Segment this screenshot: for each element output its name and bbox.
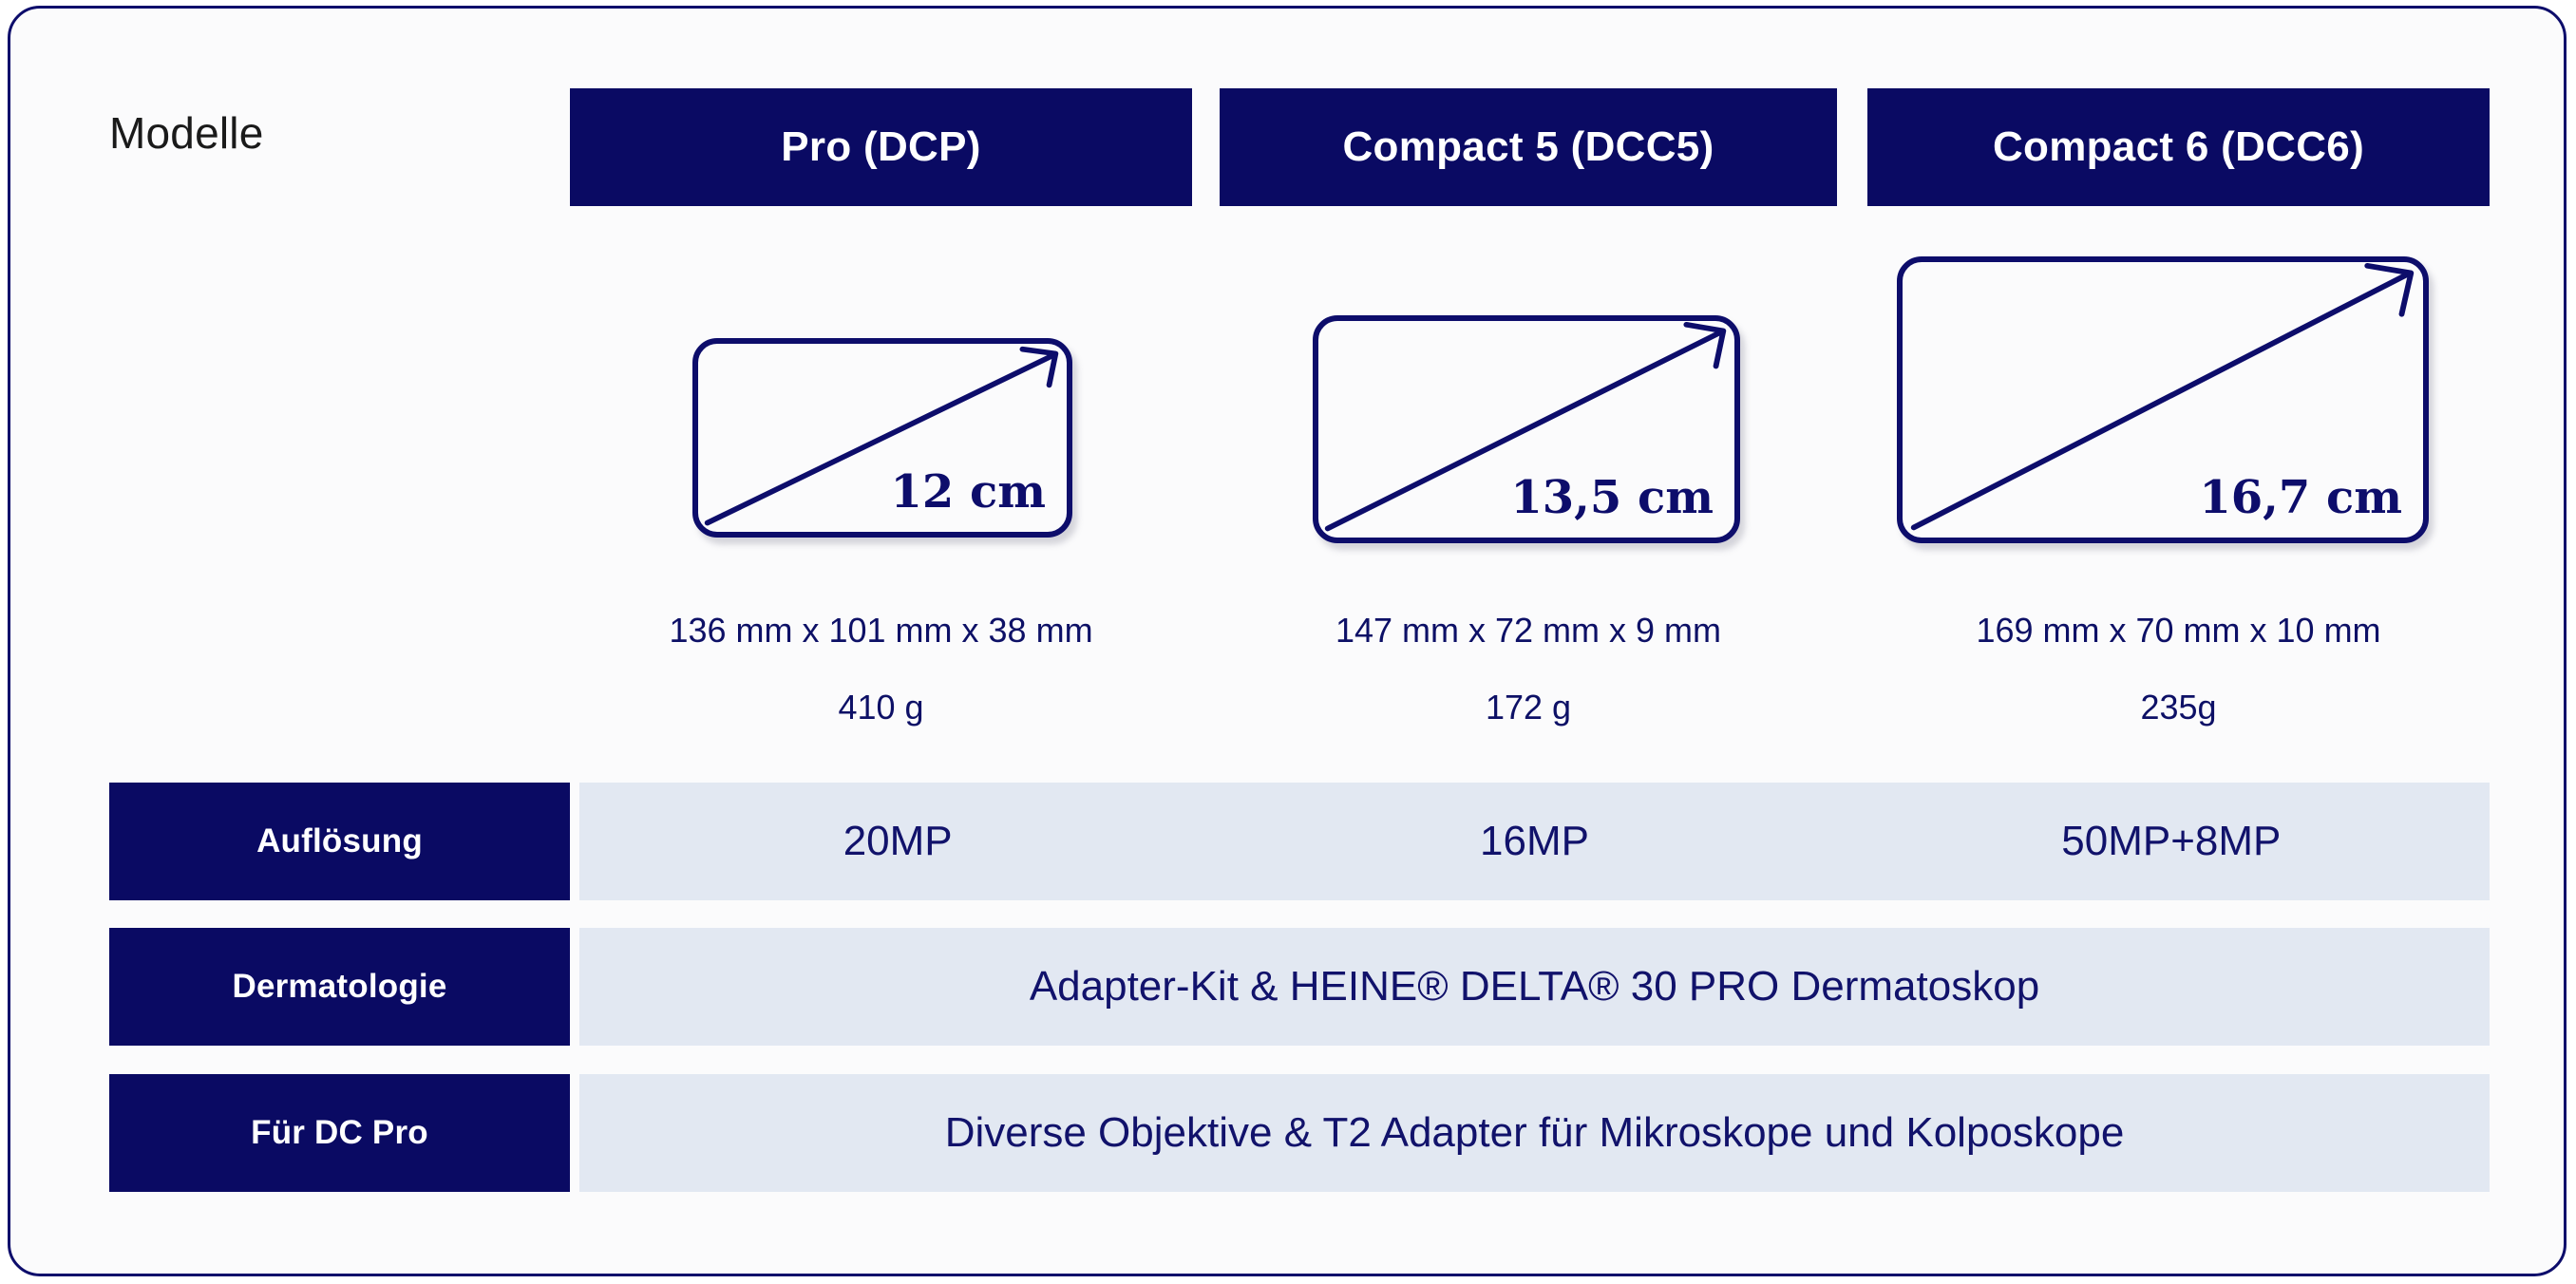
spec-value-cell: 20MP: [579, 818, 1216, 865]
device-weight: 172 g: [1220, 688, 1837, 727]
model-header-compact6[interactable]: Compact 6 (DCC6): [1867, 88, 2490, 206]
models-row-label: Modelle: [109, 107, 264, 159]
spec-row-values: 20MP 16MP 50MP+8MP: [579, 783, 2490, 900]
device-outline-compact6: 16,7 cm: [1897, 256, 2429, 543]
model-header-compact5[interactable]: Compact 5 (DCC5): [1220, 88, 1837, 206]
device-dimensions: 147 mm x 72 mm x 9 mm: [1220, 611, 1837, 651]
spec-row-label: Für DC Pro: [109, 1074, 570, 1192]
model-header-pro[interactable]: Pro (DCP): [570, 88, 1192, 206]
diagonal-measurement: 16,7 cm: [2199, 471, 2402, 524]
spec-row-values: Diverse Objektive & T2 Adapter für Mikro…: [579, 1074, 2490, 1192]
comparison-table-page: Modelle Pro (DCP) Compact 5 (DCC5) Compa…: [0, 0, 2576, 1284]
spec-row-label: Dermatologie: [109, 928, 570, 1046]
device-outline-pro: 12 cm: [692, 338, 1072, 538]
diagonal-measurement: 13,5 cm: [1510, 471, 1714, 524]
device-weight: 235g: [1867, 688, 2490, 727]
spec-row-label: Auflösung: [109, 783, 570, 900]
spec-value-cell: 16MP: [1216, 818, 1852, 865]
device-dimensions: 136 mm x 101 mm x 38 mm: [570, 611, 1192, 651]
device-outline-compact5: 13,5 cm: [1313, 315, 1740, 543]
model-header-label: Compact 5 (DCC5): [1342, 123, 1714, 171]
model-header-label: Pro (DCP): [781, 123, 980, 171]
device-dimensions: 169 mm x 70 mm x 10 mm: [1867, 611, 2490, 651]
spec-row-values: Adapter-Kit & HEINE® DELTA® 30 PRO Derma…: [579, 928, 2490, 1046]
device-weight: 410 g: [570, 688, 1192, 727]
model-header-label: Compact 6 (DCC6): [1993, 123, 2364, 171]
comparison-card: Modelle Pro (DCP) Compact 5 (DCC5) Compa…: [8, 6, 2567, 1276]
spec-value-cell: 50MP+8MP: [1853, 818, 2490, 865]
diagonal-measurement: 12 cm: [890, 465, 1046, 519]
